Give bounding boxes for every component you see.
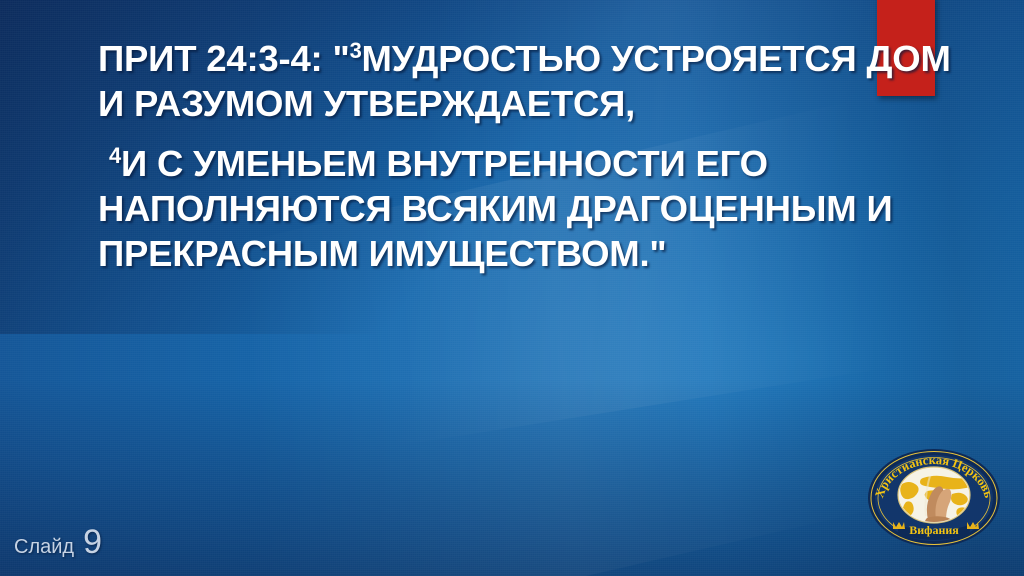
verse-paragraph-1: ПРИТ 24:3-4: "3МУДРОСТЬЮ УСТРОЯЕТСЯ ДОМ … bbox=[98, 36, 960, 126]
slide-number-label: Слайд bbox=[14, 536, 74, 559]
presentation-slide: ПРИТ 24:3-4: "3МУДРОСТЬЮ УСТРОЯЕТСЯ ДОМ … bbox=[0, 0, 1024, 576]
scripture-reference: ПРИТ 24:3-4: " bbox=[98, 38, 350, 79]
verse-number-4: 4 bbox=[109, 143, 121, 168]
slide-body-text: ПРИТ 24:3-4: "3МУДРОСТЬЮ УСТРОЯЕТСЯ ДОМ … bbox=[98, 36, 960, 276]
church-logo: Христианская Церковь Вифания bbox=[866, 448, 1002, 548]
verse-number-3: 3 bbox=[350, 38, 362, 63]
slide-number: Слайд 9 bbox=[14, 523, 102, 562]
logo-bottom-text: Вифания bbox=[909, 523, 959, 537]
slide-number-value: 9 bbox=[83, 523, 102, 562]
verse-paragraph-2: 4И С УМЕНЬЕМ ВНУТРЕННОСТИ ЕГО НАПОЛНЯЮТС… bbox=[98, 141, 960, 276]
verse-text-4: И С УМЕНЬЕМ ВНУТРЕННОСТИ ЕГО НАПОЛНЯЮТСЯ… bbox=[98, 143, 892, 274]
